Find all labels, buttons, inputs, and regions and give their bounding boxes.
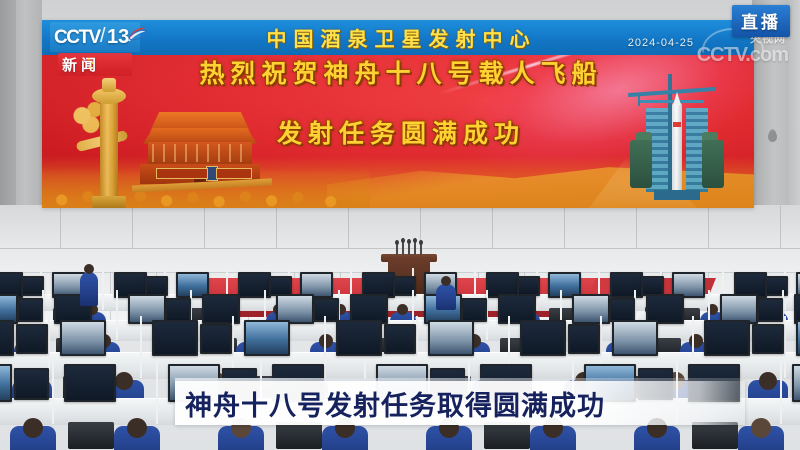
- workstation-monitor-secondary: [14, 368, 49, 400]
- workstation-monitor-secondary: [17, 298, 43, 322]
- workstation-monitor-secondary: [269, 276, 292, 296]
- workstation-monitor: [202, 294, 240, 324]
- security-camera-icon: [768, 131, 777, 142]
- workstation-monitor-secondary: [609, 298, 635, 322]
- staff-head: [319, 334, 333, 348]
- staff-head: [759, 372, 777, 390]
- workstation-monitor: [336, 320, 382, 356]
- workstation-monitor: [704, 320, 750, 356]
- lower-third-headline: 神舟十八号发射任务取得圆满成功: [175, 384, 605, 423]
- wall-panel-line: [492, 206, 493, 248]
- workstation-monitor: [572, 294, 610, 324]
- cctv-swoosh-icon: [126, 24, 148, 46]
- wall-panel-line: [780, 206, 781, 248]
- watermark-domain: CCTV.com: [697, 44, 788, 67]
- standing-staff: [80, 272, 98, 306]
- workstation-monitor: [612, 320, 658, 356]
- staff-head: [127, 418, 147, 438]
- workstation-monitor: [0, 364, 12, 402]
- stage-staff-head: [441, 276, 451, 286]
- logo-slash: /: [100, 25, 106, 48]
- wall-panel-line: [636, 206, 637, 248]
- monitor-back: [276, 422, 322, 449]
- wall-seam: [0, 248, 800, 249]
- banner-slogan-line1: 热烈祝贺神舟十八号载人飞船: [42, 54, 754, 90]
- staff-head: [751, 418, 771, 438]
- workstation-monitor-secondary: [384, 324, 416, 354]
- desk-divider: [324, 316, 326, 378]
- logo-network-text: CCTV: [54, 27, 100, 49]
- date-stamp: 2024-04-25: [628, 37, 694, 49]
- workstation-monitor: [64, 364, 116, 402]
- live-badge: 直播: [732, 5, 790, 37]
- workstation-monitor: [238, 272, 271, 298]
- monitor-back: [484, 422, 530, 449]
- wall-panel-line: [708, 206, 709, 248]
- desk-divider: [52, 360, 54, 424]
- workstation-monitor-secondary: [313, 298, 339, 322]
- workstation-monitor-secondary: [21, 276, 44, 296]
- workstation-monitor: [610, 272, 643, 298]
- monitor-back: [68, 422, 114, 449]
- logo-dots-icon: [88, 58, 98, 70]
- workstation-monitor: [0, 320, 14, 356]
- workstation-monitor-secondary: [765, 276, 788, 296]
- desk-divider: [102, 268, 104, 310]
- workstation-monitor-secondary: [641, 276, 664, 296]
- stage-staff: [436, 284, 456, 310]
- desk-divider: [784, 316, 786, 378]
- workstation-monitor-secondary: [752, 324, 784, 354]
- workstation-monitor: [792, 364, 800, 402]
- wall-panel-line: [132, 206, 133, 248]
- standing-staff-head: [84, 264, 94, 274]
- wall-panel-line: [204, 206, 205, 248]
- monitor-back: [692, 422, 738, 449]
- workstation-monitor: [60, 320, 106, 356]
- wall-panel-line: [564, 206, 565, 248]
- banner-slogan-line2: 发射任务圆满成功: [42, 114, 754, 150]
- workstation-monitor: [796, 320, 800, 356]
- workstation-monitor: [520, 320, 566, 356]
- huabiao-base: [92, 196, 126, 208]
- wall-panel-line: [276, 206, 277, 248]
- workstation-monitor-secondary: [461, 298, 487, 322]
- channel-logo: CCTV / 13 新闻: [50, 22, 140, 76]
- workstation-monitor: [428, 320, 474, 356]
- banner-slogan: 热烈祝贺神舟十八号载人飞船 发射任务圆满成功: [42, 54, 754, 150]
- workstation-monitor-secondary: [200, 324, 232, 354]
- workstation-monitor-secondary: [517, 276, 540, 296]
- workstation-monitor-secondary: [757, 298, 783, 322]
- workstation-monitor-secondary: [165, 298, 191, 322]
- lower-third-top-edge: [175, 378, 745, 381]
- staff-head: [115, 372, 133, 390]
- staff-head: [23, 418, 43, 438]
- live-badge-label: 直播: [741, 13, 781, 33]
- workstation-monitor: [244, 320, 290, 356]
- workstation-monitor: [152, 320, 198, 356]
- staff-head: [397, 304, 408, 315]
- lower-third-banner: 神舟十八号发射任务取得圆满成功: [175, 381, 745, 425]
- broadcast-frame: 中国酒泉卫星发射中心: [0, 0, 800, 450]
- venue-title: 中国酒泉卫星发射中心: [260, 23, 537, 52]
- desk-divider: [156, 360, 158, 424]
- desk-divider: [140, 316, 142, 378]
- wall-panel-line: [348, 206, 349, 248]
- workstation-monitor-secondary: [145, 276, 168, 296]
- wall-panel-line: [60, 206, 61, 248]
- desk-divider: [780, 360, 782, 424]
- workstation-monitor-secondary: [568, 324, 600, 354]
- workstation-monitor-secondary: [16, 324, 48, 354]
- desk-divider: [116, 290, 118, 340]
